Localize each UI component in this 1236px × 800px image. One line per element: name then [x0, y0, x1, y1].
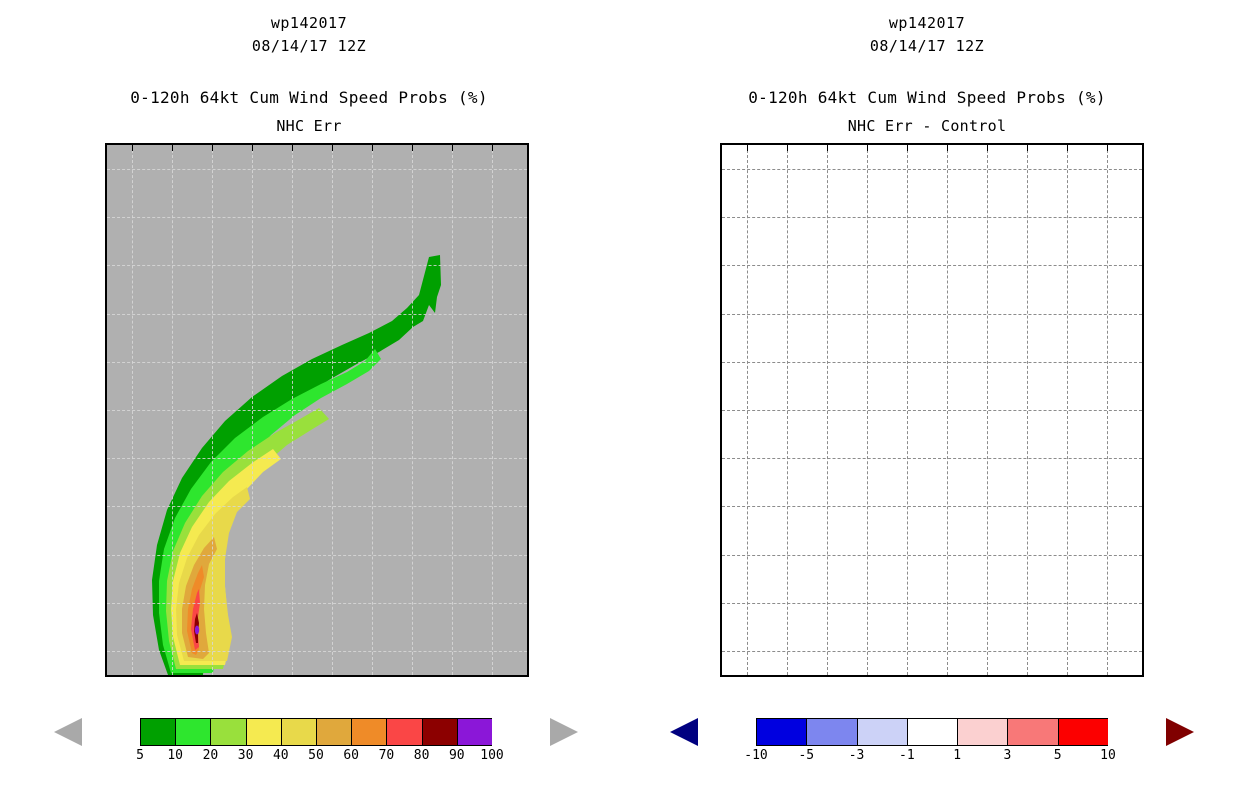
- colorbar-tick-label: 80: [414, 748, 430, 763]
- main-title-left: 0-120h 64kt Cum Wind Speed Probs (%): [0, 88, 618, 107]
- colorbar-segment: [140, 718, 175, 746]
- colorbar-segment: [907, 718, 957, 746]
- storm-id-left: wp142017: [0, 14, 618, 32]
- sub-title-right: NHC Err - Control: [618, 117, 1236, 135]
- colorbar-segment: [957, 718, 1007, 746]
- datetime-left: 08/14/17 12Z: [0, 37, 618, 55]
- colorbar-tick-label: 10: [1100, 748, 1116, 763]
- colorbar-tick-label: 10: [167, 748, 183, 763]
- colorbar-difference[interactable]: -10-5-3-113510: [756, 718, 1108, 746]
- colorbar-arrow-high: [1166, 718, 1194, 746]
- x-axis-left: 160E 162E 164E 166E 168E 170E 172E 174E …: [107, 145, 527, 675]
- colorbar-tick-label: 5: [1054, 748, 1062, 763]
- colorbar-segment: [422, 718, 457, 746]
- colorbar-tick-label: 40: [273, 748, 289, 763]
- main-title-right: 0-120h 64kt Cum Wind Speed Probs (%): [618, 88, 1236, 107]
- colorbar-arrow-high: [550, 718, 578, 746]
- colorbar-tick-label: 90: [449, 748, 465, 763]
- plot-area-right[interactable]: 24N 26N 28N 30N 32N 34N 36N 38N 40N 42N …: [720, 143, 1144, 677]
- colorbar-tick-label: 5: [136, 748, 144, 763]
- colorbar-segment: [281, 718, 316, 746]
- colorbar-tick-label: -1: [899, 748, 915, 763]
- plot-area-left[interactable]: 24N 26N 28N 30N 32N 34N 36N 38N 40N 42N …: [105, 143, 529, 677]
- colorbar-segment: [756, 718, 806, 746]
- colorbar-segment: [386, 718, 421, 746]
- sub-title-left: NHC Err: [0, 117, 618, 135]
- colorbar-probability[interactable]: 5102030405060708090100: [140, 718, 492, 746]
- colorbar-segment: [246, 718, 281, 746]
- colorbar-segment: [857, 718, 907, 746]
- colorbar-segment: [210, 718, 245, 746]
- colorbar-tick-label: 20: [203, 748, 219, 763]
- datetime-right: 08/14/17 12Z: [618, 37, 1236, 55]
- colorbar-tick-label: -5: [798, 748, 814, 763]
- storm-id-right: wp142017: [618, 14, 1236, 32]
- colorbar-segment: [175, 718, 210, 746]
- colorbar-segment: [457, 718, 492, 746]
- x-axis-right: 160E 162E 164E 166E 168E 170E 172E 174E …: [722, 145, 1142, 675]
- colorbar-segment: [316, 718, 351, 746]
- colorbar-arrow-low: [670, 718, 698, 746]
- colorbar-tick-label: -10: [744, 748, 767, 763]
- colorbar-tick-label: 70: [379, 748, 395, 763]
- panel-left: wp142017 08/14/17 12Z 0-120h 64kt Cum Wi…: [0, 0, 618, 800]
- colorbar-tick-label: 60: [343, 748, 359, 763]
- colorbar-segment: [1058, 718, 1108, 746]
- colorbar-tick-label: 30: [238, 748, 254, 763]
- colorbar-tick-label: 100: [480, 748, 503, 763]
- colorbar-segment: [1007, 718, 1057, 746]
- colorbar-arrow-low: [54, 718, 82, 746]
- colorbar-tick-label: 1: [953, 748, 961, 763]
- colorbar-segment: [806, 718, 856, 746]
- colorbar-segment: [351, 718, 386, 746]
- colorbar-tick-label: 3: [1004, 748, 1012, 763]
- colorbar-tick-label: -3: [849, 748, 865, 763]
- colorbar-tick-label: 50: [308, 748, 324, 763]
